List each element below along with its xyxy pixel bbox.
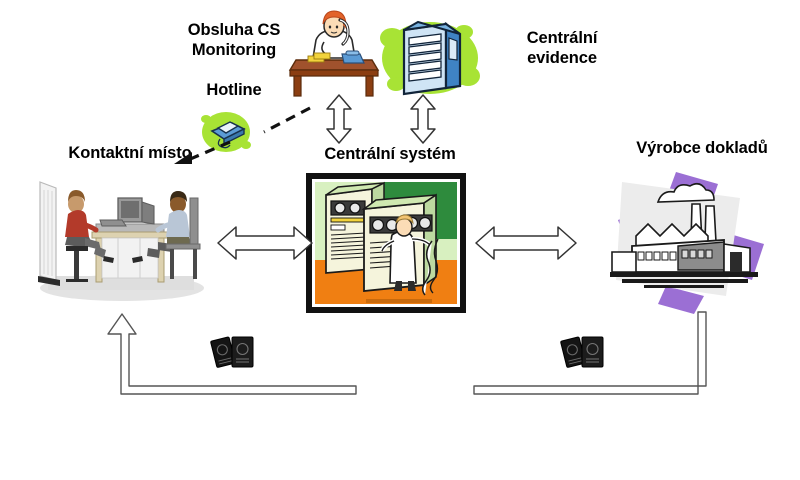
double-arrow-central-system-to-producer (474, 220, 578, 266)
outline-return-path-to-contact-point (104, 310, 358, 402)
label-central-system: Centrální systém (302, 144, 478, 164)
diagram-canvas: Obsluha CS Monitoring Hotline Centrální … (0, 0, 800, 480)
label-operator-cs-monitoring-hotline: Obsluha CS Monitoring Hotline (168, 20, 300, 101)
operator-at-desk-with-telephone-icon (286, 6, 382, 98)
double-arrow-operator-to-central-system (322, 93, 356, 145)
double-arrow-contact-point-to-central-system (216, 220, 314, 266)
double-arrow-evidence-to-central-system (406, 93, 440, 145)
factory-icon (592, 168, 778, 316)
two-people-at-desk-with-computer-icon (30, 176, 210, 304)
label-document-producer: Výrobce dokladů (612, 138, 792, 158)
outline-return-path-from-producer (470, 310, 710, 402)
mainframe-computers-with-technician-icon (306, 173, 466, 313)
label-central-evidence: Centrální evidence (497, 28, 627, 68)
dashed-arrow-hotline-to-contact-point (168, 104, 316, 166)
